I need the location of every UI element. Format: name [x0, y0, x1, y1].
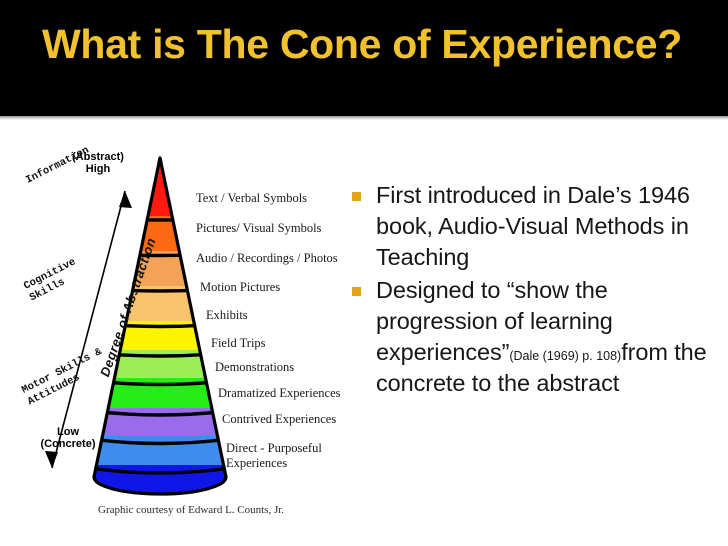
band-label-3: Motion Pictures	[200, 280, 280, 295]
list-item: Designed to “show the progression of lea…	[346, 275, 718, 399]
cone-of-experience-figure: (Abstract) High Low (Concrete) Informati…	[0, 128, 346, 546]
bullet-square-icon	[352, 287, 361, 296]
page-title: What is The Cone of Experience?	[42, 21, 702, 68]
slide: What is The Cone of Experience?	[0, 0, 728, 546]
band-label-7: Dramatized Experiences	[218, 386, 341, 401]
title-divider	[0, 116, 728, 120]
band-label-4: Exhibits	[206, 308, 248, 323]
bullet-square-icon	[352, 192, 361, 201]
band-label-5: Field Trips	[211, 336, 266, 351]
title-bar: What is The Cone of Experience?	[0, 0, 728, 116]
figure-credit: Graphic courtesy of Edward L. Counts, Jr…	[98, 504, 284, 516]
band-label-1: Pictures/ Visual Symbols	[196, 221, 321, 236]
bullet-text-1: First introduced in Dale’s 1946 book, Au…	[376, 182, 690, 270]
list-item: First introduced in Dale’s 1946 book, Au…	[346, 180, 718, 273]
band-label-0: Text / Verbal Symbols	[196, 191, 307, 206]
bullet-citation: (Dale (1969) p. 108)	[509, 349, 621, 363]
band-label-6: Demonstrations	[215, 360, 294, 375]
cone-bottom-label: Low (Concrete)	[22, 426, 114, 450]
band-label-8: Contrived Experiences	[222, 412, 336, 427]
cone-bottom-label-line1: Low	[22, 426, 114, 438]
band-label-2: Audio / Recordings / Photos	[196, 251, 338, 266]
band-label-9: Direct - Purposeful Experiences	[226, 441, 326, 471]
bullet-list: First introduced in Dale’s 1946 book, Au…	[346, 180, 718, 401]
cone-bottom-label-line2: (Concrete)	[22, 438, 114, 450]
